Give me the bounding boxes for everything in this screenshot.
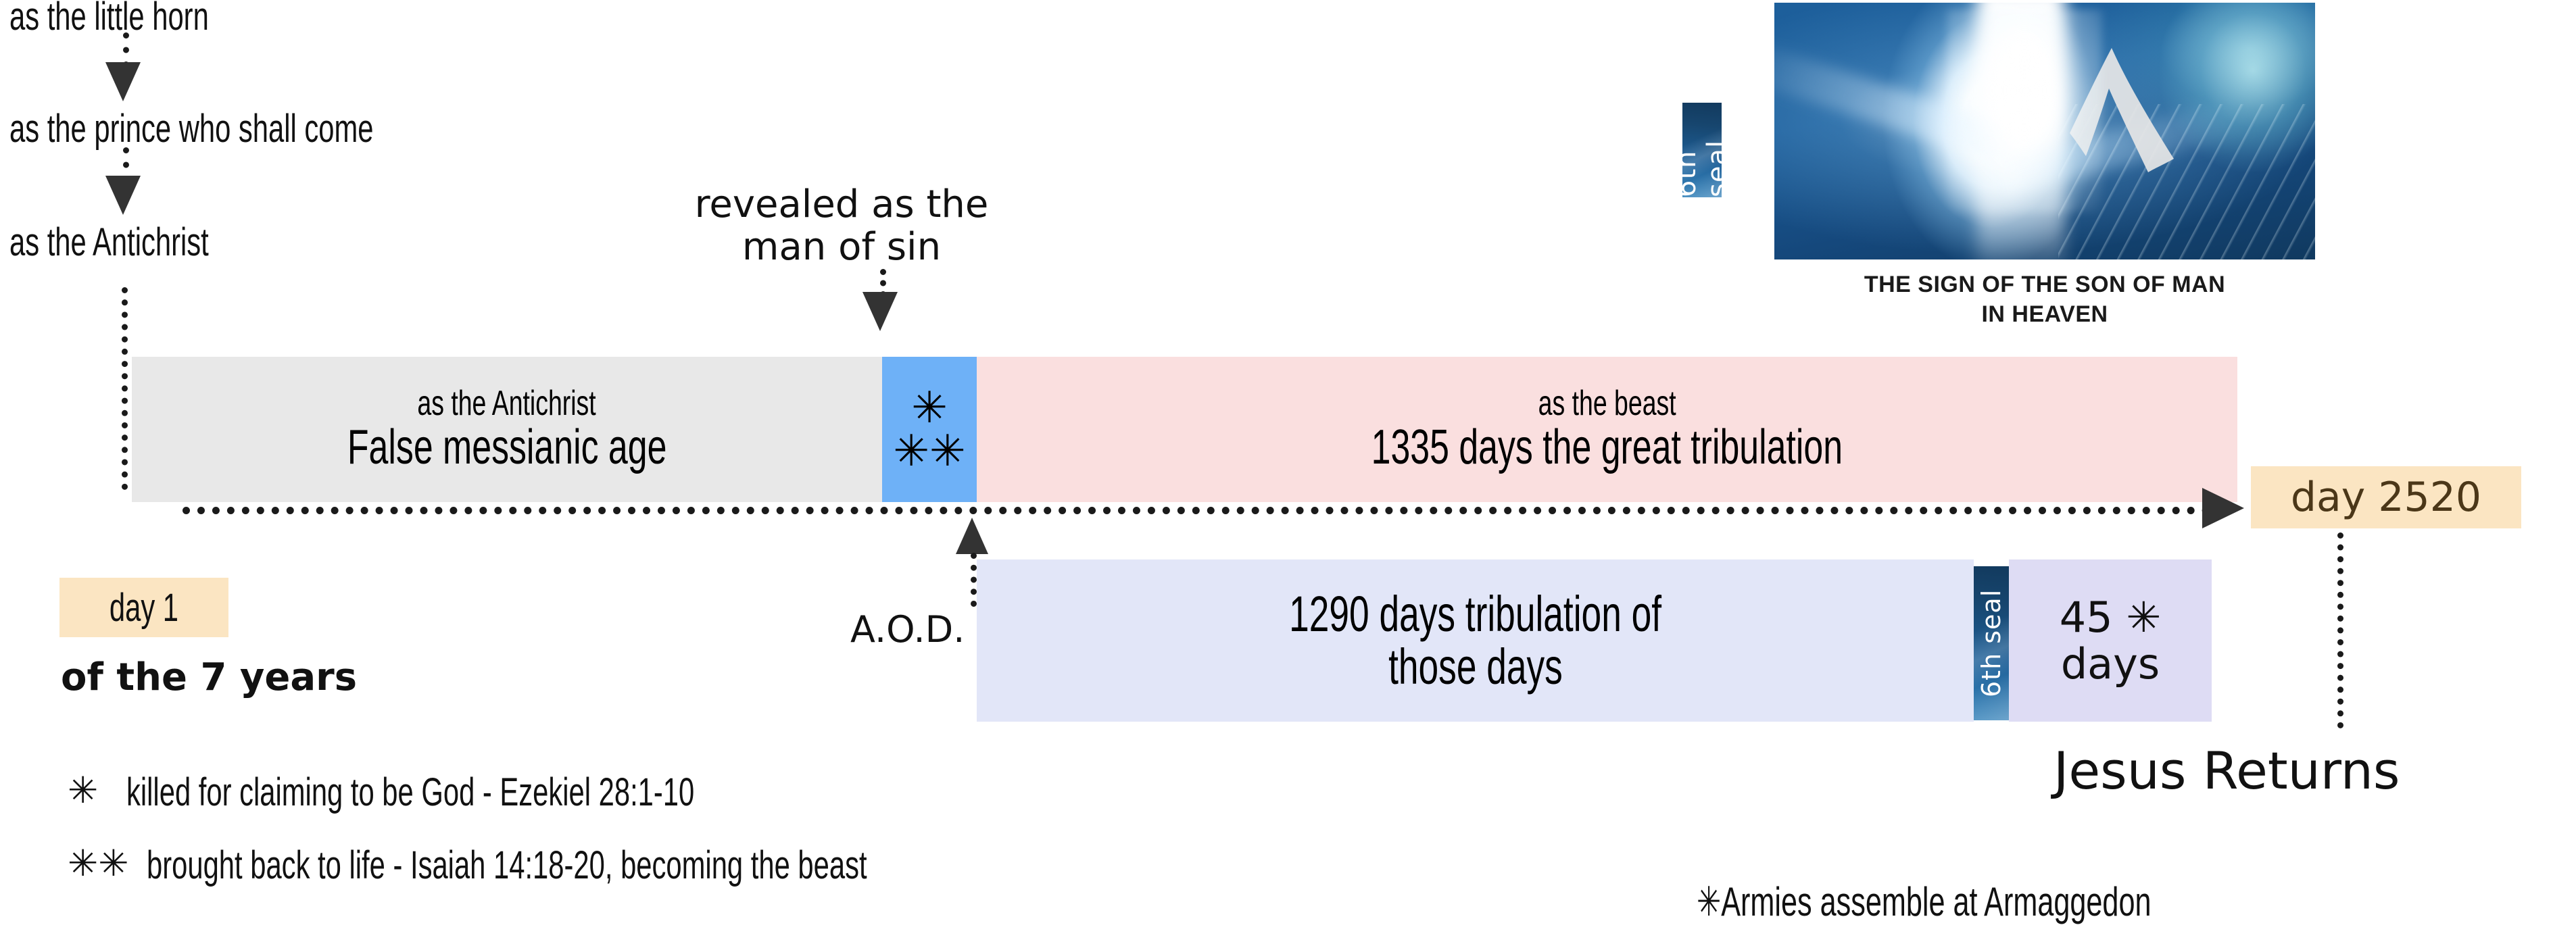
day-2520-chip: day 2520 <box>2251 466 2521 528</box>
sixth-seal-tile-image: 6th seal <box>1682 103 1722 197</box>
aod-arrow-up-icon <box>956 518 988 554</box>
forty-five-days-line2: days <box>2061 641 2160 687</box>
day1-vertical-dotted-line <box>122 287 128 490</box>
footnote-marker: ✳ <box>68 769 98 812</box>
armies-assemble-text: ✳Armies assemble at Armaggedon <box>1697 882 2152 922</box>
segment-false-messianic-age: as the Antichrist False messianic age <box>132 357 882 502</box>
chain-item-label: as the little horn <box>9 0 209 36</box>
chain-item-antichrist: as the Antichrist <box>9 223 286 262</box>
chain-arrow-down-icon-1 <box>105 62 141 101</box>
footnote-single-asterisk: ✳ killed for claiming to be God - Ezekie… <box>68 770 915 812</box>
segment-main-label-line1: 1290 days tribulation of <box>1289 588 1661 641</box>
segment-tribulation-of-those-days: 1290 days tribulation of those days <box>977 559 1974 722</box>
segment-main-label: False messianic age <box>347 422 667 474</box>
timeline-horizontal-dotted-line <box>183 507 2210 514</box>
footnote-marker: ✳✳ <box>68 842 129 885</box>
chain-item-prince: as the prince who shall come <box>9 109 515 149</box>
forty-five-days-line1: 45 ✳ <box>2060 594 2162 641</box>
footnote-double-asterisk: ✳✳ brought back to life - Isaiah 14:18-2… <box>68 843 1147 885</box>
segment-main-label-line2: those days <box>1388 641 1563 693</box>
segment-forty-five-days: 45 ✳ days <box>2009 559 2212 722</box>
segment-sub-label: as the beast <box>1538 385 1676 422</box>
revealed-label-line1: revealed as the <box>659 184 1024 226</box>
armies-assemble-label: ✳Armies assemble at Armaggedon <box>1697 882 2328 922</box>
segment-sub-label: as the Antichrist <box>418 385 596 422</box>
sign-of-son-of-man-image <box>1774 3 2315 259</box>
revealed-label-line2: man of sin <box>659 226 1024 269</box>
timeline-arrow-right-icon <box>2202 488 2244 528</box>
single-asterisk-marker: ✳ <box>911 387 948 430</box>
day-1-chip: day 1 <box>59 578 228 637</box>
double-asterisk-marker: ✳✳ <box>893 430 965 473</box>
chain-item-label: as the prince who shall come <box>9 109 374 149</box>
revealed-arrow-down-icon <box>862 292 898 331</box>
caption-line1: THE SIGN OF THE SON OF MAN <box>1768 270 2322 300</box>
of-the-7-years-label: of the 7 years <box>61 655 357 699</box>
prophecy-timeline-diagram: as the little horn as the prince who sha… <box>0 0 2576 946</box>
day-2520-label: day 2520 <box>2291 474 2481 521</box>
sign-image-caption: THE SIGN OF THE SON OF MAN IN HEAVEN <box>1768 270 2322 329</box>
aod-connector-dots <box>971 553 977 607</box>
segment-main-label: 1335 days the great tribulation <box>1371 422 1843 474</box>
chain-item-little-horn: as the little horn <box>9 0 286 36</box>
sixth-seal-label: 6th seal <box>1671 103 1733 197</box>
sixth-seal-label: 6th seal <box>1976 589 2006 697</box>
footnote-text: brought back to life - Isaiah 14:18-20, … <box>147 846 867 885</box>
day-1-label: day 1 <box>110 585 178 630</box>
chain-arrow-down-icon-2 <box>105 176 141 215</box>
sixth-seal-marker-bottom: 6th seal <box>1974 566 2009 720</box>
chain-item-label: as the Antichrist <box>9 223 209 262</box>
segment-death-and-resurrection: ✳ ✳✳ <box>882 357 977 502</box>
segment-great-tribulation: as the beast 1335 days the great tribula… <box>977 357 2237 502</box>
footnote-text: killed for claiming to be God - Ezekiel … <box>126 773 694 812</box>
revealed-as-man-of-sin-label: revealed as the man of sin <box>659 184 1024 268</box>
glow-core <box>1947 9 2102 212</box>
day2520-vertical-dotted-line <box>2337 532 2343 728</box>
caption-line2: IN HEAVEN <box>1768 300 2322 330</box>
jesus-returns-label: Jesus Returns <box>2053 741 2400 801</box>
